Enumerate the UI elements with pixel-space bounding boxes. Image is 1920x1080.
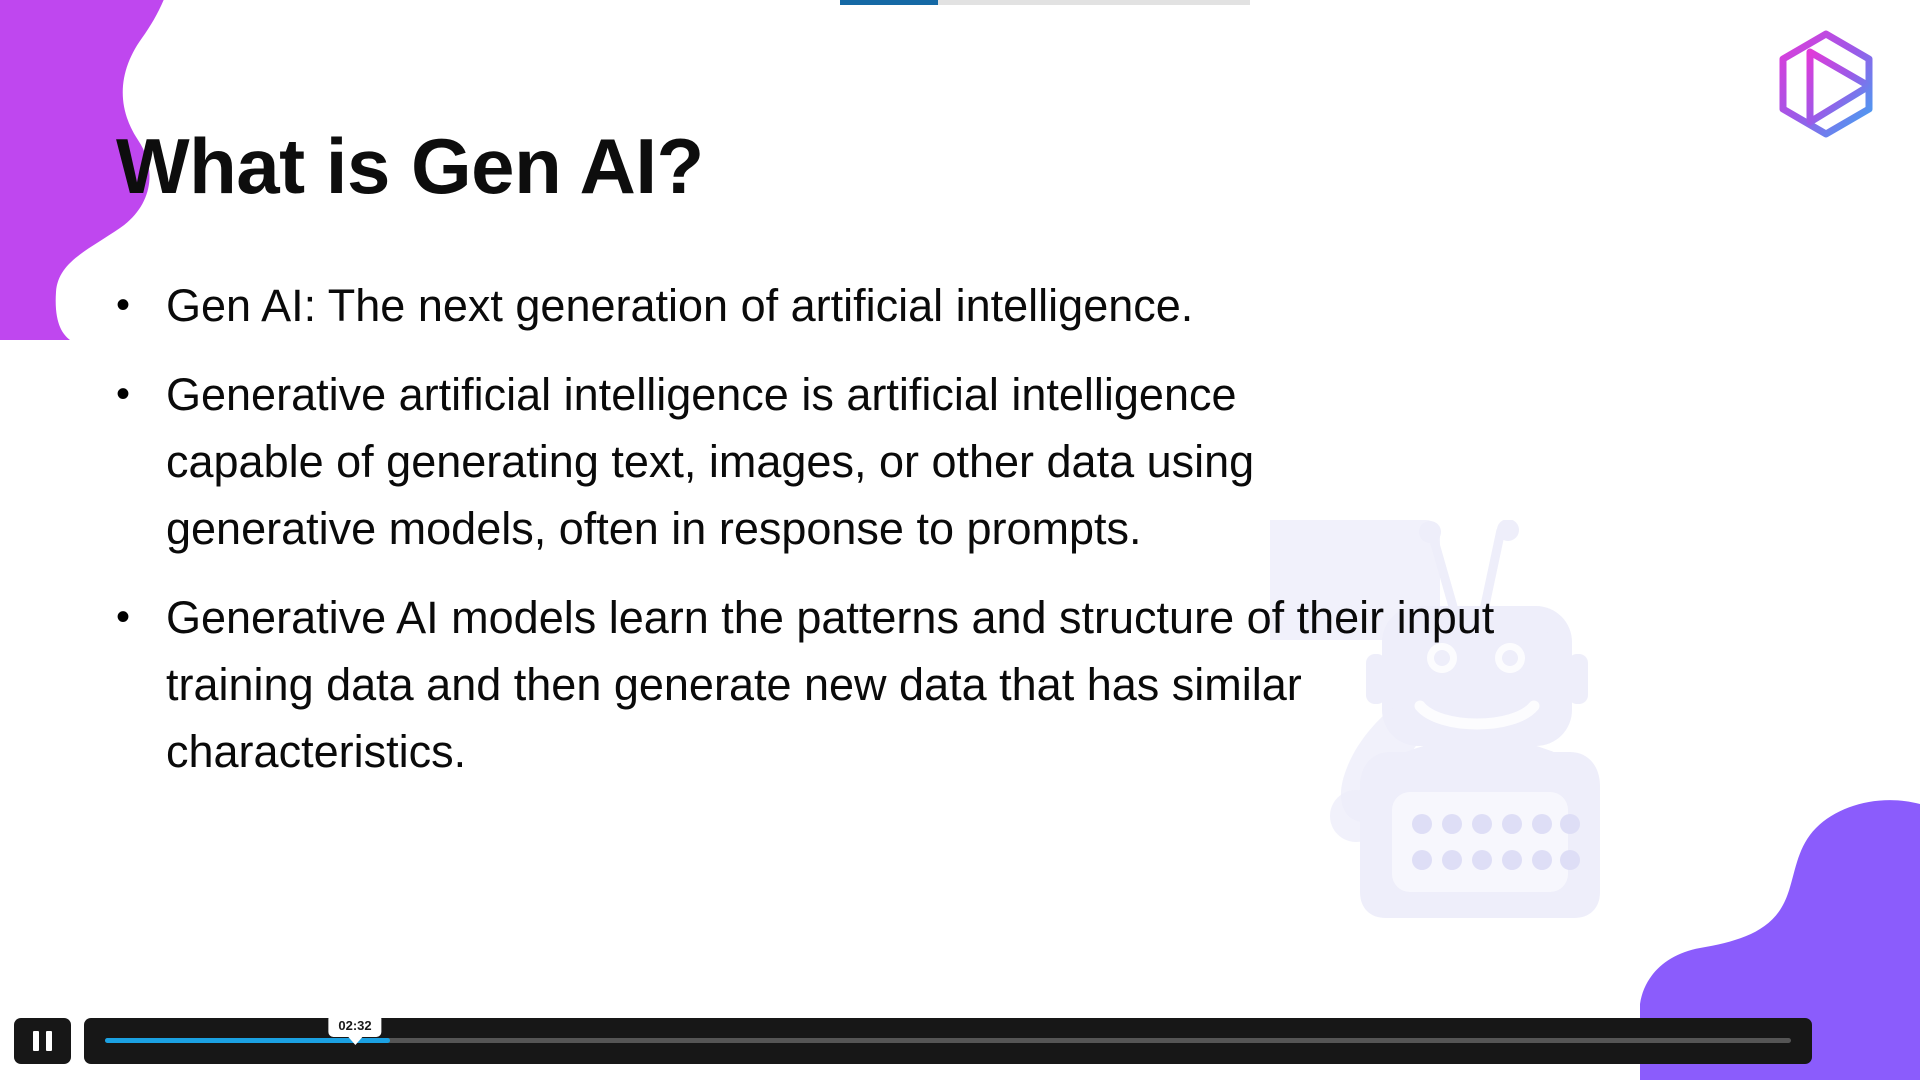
top-page-progress-fill	[840, 0, 938, 5]
bullet-marker-icon: •	[106, 272, 166, 339]
bullet-text: Generative artificial intelligence is ar…	[166, 361, 1346, 562]
bullet-marker-icon: •	[106, 584, 166, 651]
list-item: • Generative AI models learn the pattern…	[106, 584, 1766, 785]
bullet-text: Generative AI models learn the patterns …	[166, 584, 1496, 785]
list-item: • Generative artificial intelligence is …	[106, 361, 1766, 562]
hexagon-play-logo	[1777, 30, 1875, 138]
pause-icon	[33, 1031, 52, 1051]
bullet-text: Gen AI: The next generation of artificia…	[166, 272, 1566, 339]
play-pause-button[interactable]	[14, 1018, 71, 1064]
page-title: What is Gen AI?	[116, 126, 704, 208]
bullet-marker-icon: •	[106, 361, 166, 428]
list-item: • Gen AI: The next generation of artific…	[106, 272, 1766, 339]
bullet-list: • Gen AI: The next generation of artific…	[106, 272, 1766, 807]
slide-viewer-stage: What is Gen AI? • Gen AI: The next gener…	[0, 0, 1920, 1080]
seek-time-tooltip: 02:32	[328, 1014, 381, 1037]
top-page-progress-track	[840, 0, 1250, 5]
